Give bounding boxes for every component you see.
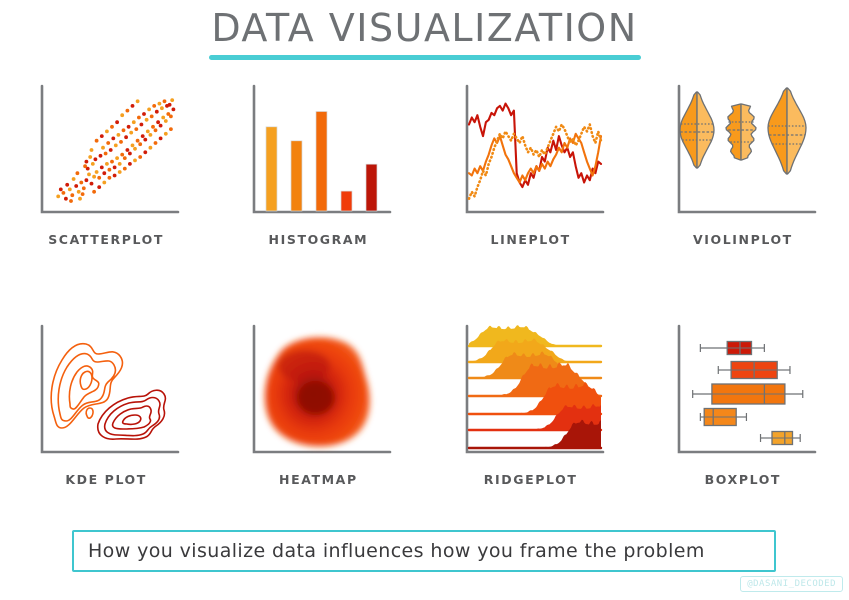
ridgeplot-rows [469, 325, 601, 448]
plot-cell-violinplot: VIOLINPLOT [637, 72, 849, 312]
plot-row-2: KDE PLOT [0, 312, 849, 552]
heatmap-label: HEATMAP [212, 472, 424, 487]
heatmap-svg [240, 320, 396, 466]
violinplot-violins [680, 88, 806, 174]
scatterplot-points [56, 98, 175, 203]
heatmap-figure [240, 320, 396, 466]
boxplot-svg [665, 320, 821, 466]
infographic-page: DATA VISUALIZATION SCATTERPLOT [0, 0, 849, 600]
histogram-figure [240, 80, 396, 226]
boxplot-boxes [693, 342, 803, 445]
histogram-bars [266, 112, 377, 212]
plot-row-1: SCATTERPLOT HISTOGRAM [0, 72, 849, 312]
plot-cell-ridgeplot: RIDGEPLOT [425, 312, 637, 552]
lineplot-figure [453, 80, 609, 226]
ridgeplot-figure [453, 320, 609, 466]
plot-cell-scatterplot: SCATTERPLOT [0, 72, 212, 312]
plot-cell-histogram: HISTOGRAM [212, 72, 424, 312]
violinplot-figure [665, 80, 821, 226]
plot-cell-heatmap: HEATMAP [212, 312, 424, 552]
heatmap-blob [265, 337, 370, 446]
lineplot-svg [453, 80, 609, 226]
watermark: @DASANI_DECODED [740, 576, 843, 592]
plot-grid: SCATTERPLOT HISTOGRAM [0, 72, 849, 552]
page-title-container: DATA VISUALIZATION [0, 8, 849, 60]
title-underline [209, 55, 641, 60]
kdeplot-label: KDE PLOT [0, 472, 212, 487]
scatterplot-label: SCATTERPLOT [0, 232, 212, 247]
violinplot-label: VIOLINPLOT [637, 232, 849, 247]
scatterplot-svg [28, 80, 184, 226]
tagline-text: How you visualize data influences how yo… [74, 540, 705, 562]
boxplot-figure [665, 320, 821, 466]
kdeplot-svg [28, 320, 184, 466]
scatterplot-figure [28, 80, 184, 226]
page-title: DATA VISUALIZATION [205, 8, 643, 54]
violinplot-svg [665, 80, 821, 226]
lineplot-series [469, 104, 601, 199]
histogram-label: HISTOGRAM [212, 232, 424, 247]
kdeplot-figure [28, 320, 184, 466]
lineplot-label: LINEPLOT [425, 232, 637, 247]
boxplot-label: BOXPLOT [637, 472, 849, 487]
ridgeplot-svg [453, 320, 609, 466]
plot-cell-kdeplot: KDE PLOT [0, 312, 212, 552]
plot-cell-boxplot: BOXPLOT [637, 312, 849, 552]
plot-cell-lineplot: LINEPLOT [425, 72, 637, 312]
kdeplot-contours [51, 344, 165, 439]
ridgeplot-label: RIDGEPLOT [425, 472, 637, 487]
histogram-svg [240, 80, 396, 226]
tagline-box: How you visualize data influences how yo… [72, 530, 776, 572]
